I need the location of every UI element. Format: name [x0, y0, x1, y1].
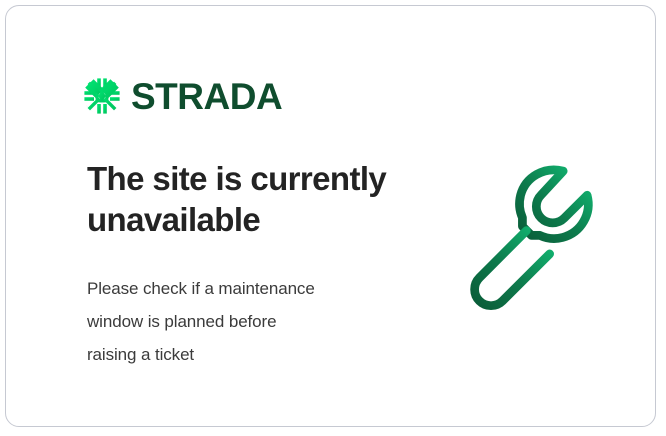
- status-card: STRADA The site is currently unavailable…: [5, 5, 656, 427]
- wrench-icon: [461, 158, 616, 313]
- status-description: Please check if a maintenance window is …: [87, 272, 407, 371]
- description-line: raising a ticket: [87, 338, 407, 371]
- description-line: Please check if a maintenance: [87, 272, 407, 305]
- page-title: The site is currently unavailable: [87, 158, 447, 240]
- description-line: window is planned before: [87, 305, 407, 338]
- brand-wordmark: STRADA: [131, 78, 282, 115]
- error-page: STRADA The site is currently unavailable…: [0, 0, 666, 436]
- brand-logo: STRADA: [82, 72, 282, 120]
- strada-asterisk-mark-icon: [82, 76, 122, 116]
